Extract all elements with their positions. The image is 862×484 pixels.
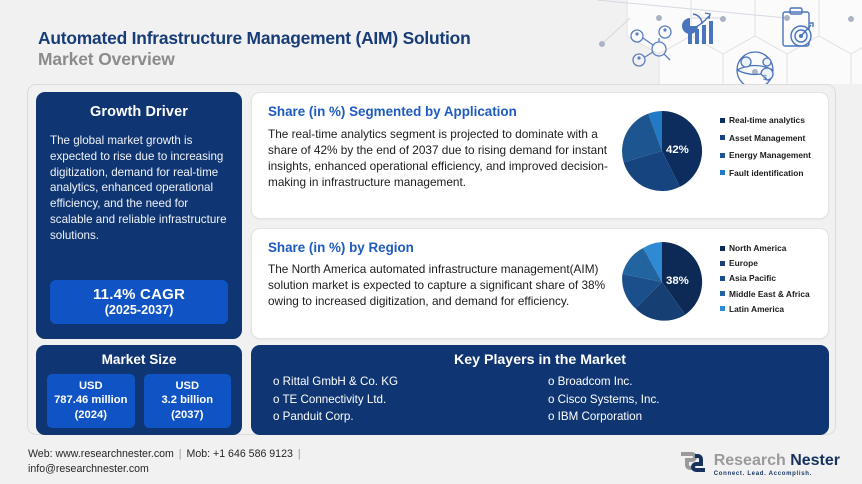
divider: |: [296, 448, 303, 460]
market-size-value: 787.46 million: [49, 393, 133, 407]
legend-label: Europe: [729, 258, 758, 268]
list-item: Broadcom Inc.: [548, 373, 815, 391]
market-size-year: (2024): [49, 408, 133, 422]
region-share-card: Share (in %) by Region The North America…: [251, 228, 829, 339]
legend-label: Asset Management: [729, 133, 805, 143]
logo-word-nester: Nester: [790, 452, 840, 469]
legend-label: Real-time analytics: [729, 115, 805, 125]
clipboard-target-icon: [783, 8, 813, 46]
pie-slices: [622, 242, 702, 321]
legend-swatch-icon: [720, 135, 725, 140]
globe-money-icon: $: [737, 52, 773, 84]
web-label: Web:: [28, 448, 53, 460]
market-size-currency: USD: [146, 379, 230, 393]
market-size-box: USD 3.2 billion (2037): [144, 374, 232, 428]
legend-item: Asset Management: [720, 133, 811, 143]
legend-label: Energy Management: [729, 150, 811, 160]
region-share-heading: Share (in %) by Region: [268, 240, 414, 255]
footer-contact: Web: www.researchnester.com | Mob: +1 64…: [28, 447, 303, 477]
list-item: TE Connectivity Ltd.: [273, 391, 540, 409]
legend-label: Fault identification: [729, 168, 803, 178]
legend-item: Energy Management: [720, 150, 811, 160]
decorative-hex-pattern: $: [597, 0, 862, 84]
legend-label: Asia Pacific: [729, 273, 776, 283]
market-size-value: 3.2 billion: [146, 393, 230, 407]
market-size-card: Market Size USD 787.46 million (2024) US…: [36, 345, 242, 435]
list-item: Cisco Systems, Inc.: [548, 391, 815, 409]
svg-text:$: $: [763, 75, 767, 82]
key-players-columns: Rittal GmbH & Co. KG TE Connectivity Ltd…: [251, 373, 829, 426]
application-share-card: Share (in %) Segmented by Application Th…: [251, 92, 829, 219]
footer-email[interactable]: info@researchnester.com: [28, 462, 303, 477]
title-line-1: Automated Infrastructure Management (AIM…: [38, 28, 471, 48]
legend-swatch-icon: [720, 291, 725, 296]
growth-driver-heading: Growth Driver: [50, 104, 228, 120]
legend-label: North America: [729, 243, 786, 253]
legend-item: Fault identification: [720, 168, 811, 178]
page-title: Automated Infrastructure Management (AIM…: [38, 28, 471, 69]
web-url[interactable]: www.researchnester.com: [56, 448, 174, 460]
legend-item: Real-time analytics: [720, 115, 811, 125]
mobile-label: Mob:: [187, 448, 211, 460]
legend-swatch-icon: [720, 306, 725, 311]
growth-driver-card: Growth Driver The global market growth i…: [36, 92, 242, 339]
cagr-period: (2025-2037): [54, 303, 224, 317]
logo-tagline: Connect. Lead. Accomplish.: [714, 471, 840, 477]
legend-item: North America: [720, 243, 810, 253]
title-line-2: Market Overview: [38, 49, 471, 69]
mobile-number: +1 646 586 9123: [213, 448, 293, 460]
cagr-value: 11.4% CAGR: [54, 286, 224, 303]
logo-text: Research Nester Connect. Lead. Accomplis…: [714, 453, 840, 477]
divider: |: [177, 448, 184, 460]
key-players-column-left: Rittal GmbH & Co. KG TE Connectivity Ltd…: [265, 373, 540, 426]
bar-chart-growth-icon: [682, 13, 713, 44]
legend-swatch-icon: [720, 261, 725, 266]
market-size-box: USD 787.46 million (2024): [47, 374, 135, 428]
key-players-column-right: Broadcom Inc. Cisco Systems, Inc. IBM Co…: [540, 373, 815, 426]
legend-swatch-icon: [720, 118, 725, 123]
legend-item: Latin America: [720, 304, 810, 314]
key-players-heading: Key Players in the Market: [251, 352, 829, 368]
research-nester-logo: Research Nester Connect. Lead. Accomplis…: [678, 450, 840, 479]
legend-label: Middle East & Africa: [729, 289, 810, 299]
legend-swatch-icon: [720, 246, 725, 251]
legend-swatch-icon: [720, 170, 725, 175]
pie-slices: [622, 111, 702, 191]
growth-driver-body: The global market growth is expected to …: [50, 133, 228, 243]
infographic-page: $ Automated Infrastructure Management (A…: [0, 0, 862, 484]
legend-item: Asia Pacific: [720, 273, 810, 283]
application-pie-chart: 42%: [620, 109, 704, 193]
region-pie-legend: North America Europe Asia Pacific Middle…: [720, 243, 810, 319]
legend-item: Europe: [720, 258, 810, 268]
market-size-values: USD 787.46 million (2024) USD 3.2 billio…: [47, 374, 231, 428]
key-players-card: Key Players in the Market Rittal GmbH & …: [251, 345, 829, 435]
legend-label: Latin America: [729, 304, 784, 314]
logo-word-research: Research: [714, 452, 786, 469]
list-item: Rittal GmbH & Co. KG: [273, 373, 540, 391]
cagr-badge: 11.4% CAGR (2025-2037): [50, 280, 228, 324]
network-people-icon: [631, 26, 671, 66]
market-size-currency: USD: [49, 379, 133, 393]
legend-swatch-icon: [720, 276, 725, 281]
market-size-year: (2037): [146, 408, 230, 422]
footer-line-1: Web: www.researchnester.com | Mob: +1 64…: [28, 447, 303, 462]
legend-swatch-icon: [720, 153, 725, 158]
application-share-heading: Share (in %) Segmented by Application: [268, 104, 517, 119]
list-item: Panduit Corp.: [273, 408, 540, 426]
legend-item: Middle East & Africa: [720, 289, 810, 299]
region-share-body: The North America automated infrastructu…: [268, 262, 630, 310]
market-size-heading: Market Size: [36, 352, 242, 367]
list-item: IBM Corporation: [548, 408, 815, 426]
application-pie-legend: Real-time analytics Asset Management Ene…: [720, 115, 811, 185]
logo-mark-icon: [678, 450, 708, 479]
application-share-body: The real-time analytics segment is proje…: [268, 127, 620, 191]
region-pie-chart: 38%: [620, 240, 704, 324]
